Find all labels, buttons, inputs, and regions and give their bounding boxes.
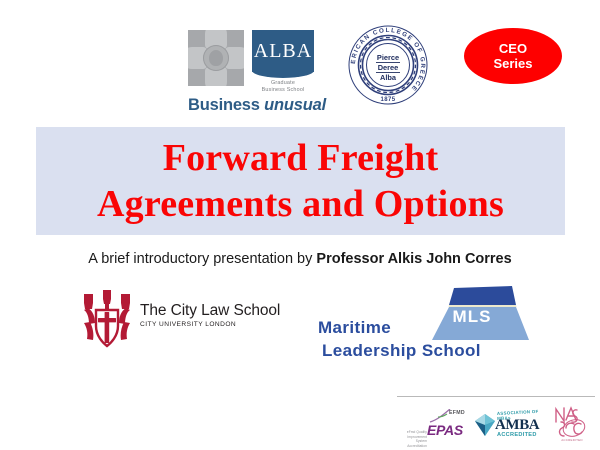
ceo-series-line1: CEO [499, 41, 527, 56]
presentation-title-band: Forward Freight Agreements and Options [36, 127, 565, 235]
svg-text:Deree: Deree [378, 63, 399, 72]
alba-subtitle-line2: Business School [252, 87, 314, 94]
svg-text:Pierce: Pierce [377, 53, 399, 62]
ceo-series-badge: CEO Series [464, 28, 562, 84]
mls-wordmark: Maritime Leadership School [318, 316, 530, 362]
alba-coin-head-icon [203, 45, 229, 71]
alba-wordmark-text: ALBA [254, 41, 312, 61]
ceo-series-line2: Series [493, 56, 532, 71]
amba-accreditation-logo: ASSOCIATION OF MBAs AMBA ACCREDITED [473, 404, 541, 446]
alba-tagline-italic: unusual [264, 96, 326, 114]
alba-tagline: Business unusual [188, 96, 316, 115]
accreditation-logo-strip: EFMD EPAS eFmd Quality Improvement Syste… [397, 404, 595, 446]
epas-accreditation-logo: EFMD EPAS eFmd Quality Improvement Syste… [397, 404, 469, 446]
alba-logo: ALBA Graduate Business School Business u… [188, 30, 314, 118]
slide-canvas: ALBA Graduate Business School Business u… [0, 0, 600, 450]
alba-tagline-regular: Business [188, 96, 264, 114]
header-logo-row: ALBA Graduate Business School Business u… [0, 0, 600, 126]
subtitle-presenter-name: Professor Alkis John Corres [316, 251, 511, 267]
city-law-school-text: The City Law School CITY UNIVERSITY LOND… [140, 302, 274, 330]
presentation-title-line1: Forward Freight [163, 135, 439, 181]
neasc-fineprint: ACCREDITED [549, 438, 595, 442]
maritime-leadership-school-logo: MLS Maritime Leadership School [318, 285, 530, 361]
subtitle-prefix: A brief introductory presentation by [88, 251, 316, 267]
mls-word-maritime: Maritime [318, 316, 530, 339]
presentation-title-line2: Agreements and Options [97, 181, 504, 227]
epas-wordmark: EPAS [427, 422, 463, 438]
svg-text:1875: 1875 [381, 97, 396, 103]
alba-subtitle-line1: Graduate [252, 80, 314, 87]
alba-emblem-icon [188, 30, 244, 86]
city-law-school-logo: The City Law School CITY UNIVERSITY LOND… [80, 288, 270, 350]
presentation-subtitle: A brief introductory presentation by Pro… [0, 250, 600, 269]
city-law-school-name: The City Law School [140, 302, 274, 320]
efmd-label: EFMD [449, 410, 465, 416]
alba-subtitle: Graduate Business School [252, 80, 314, 94]
american-college-of-greece-seal-icon: THE AMERICAN COLLEGE OF GREECE Pierce De… [345, 22, 431, 108]
accreditation-divider-rule [397, 396, 595, 397]
amba-accredited-label: ACCREDITED [497, 432, 537, 438]
amba-gem-icon [473, 413, 497, 442]
svg-text:Alba: Alba [380, 73, 397, 82]
city-law-school-crest-icon [80, 288, 134, 350]
alba-wordmark-box: ALBA [252, 30, 314, 72]
mls-word-leadership-school: Leadership School [322, 339, 530, 362]
epas-fineprint: eFmd Quality Improvement System Accredit… [397, 430, 427, 448]
city-university-london-label: CITY UNIVERSITY LONDON [140, 320, 274, 330]
neasc-accreditation-logo: ACCREDITED [549, 404, 595, 446]
